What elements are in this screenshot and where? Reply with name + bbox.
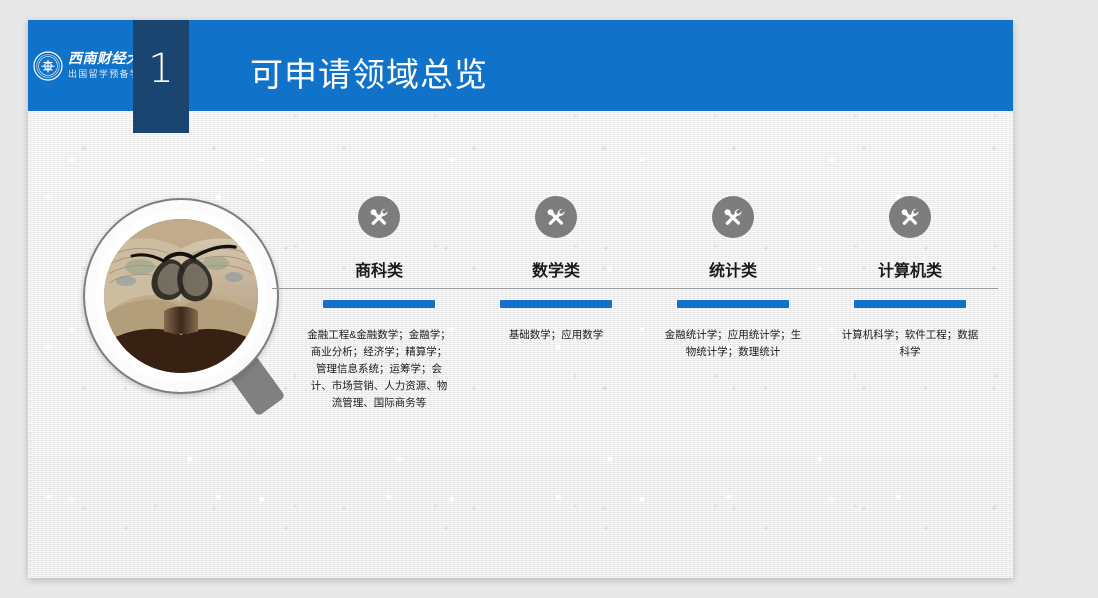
tools-icon bbox=[535, 196, 577, 238]
screenshot-canvas: 西南财经大学 出国留学预备学院 1 可申请领域总览 bbox=[0, 0, 1098, 598]
category-item-2[interactable]: 统计类 金融统计学；应用统计学；生物统计学；数理统计 bbox=[645, 196, 821, 361]
university-seal-icon bbox=[33, 51, 63, 81]
category-description: 基础数学；应用数学 bbox=[468, 327, 644, 344]
tools-icon bbox=[358, 196, 400, 238]
category-description: 金融工程&金融数学；金融学；商业分析；经济学；精算学；管理信息系统；运筹学；会计… bbox=[291, 327, 467, 412]
presentation-slide: 西南财经大学 出国留学预备学院 1 可申请领域总览 bbox=[28, 20, 1013, 578]
magnifying-glass-icon bbox=[83, 198, 293, 423]
category-title: 商科类 bbox=[291, 257, 467, 281]
category-description: 计算机科学；软件工程；数据科学 bbox=[822, 327, 998, 361]
category-accent-bar bbox=[323, 300, 435, 308]
category-item-3[interactable]: 计算机类 计算机科学；软件工程；数据科学 bbox=[822, 196, 998, 361]
tools-icon bbox=[712, 196, 754, 238]
tools-icon bbox=[889, 196, 931, 238]
page-title: 可申请领域总览 bbox=[250, 48, 488, 96]
category-description: 金融统计学；应用统计学；生物统计学；数理统计 bbox=[645, 327, 821, 361]
magnifier-lens-photo bbox=[104, 219, 258, 373]
category-accent-bar bbox=[500, 300, 612, 308]
category-title: 统计类 bbox=[645, 257, 821, 281]
category-item-0[interactable]: 商科类 金融工程&金融数学；金融学；商业分析；经济学；精算学；管理信息系统；运筹… bbox=[291, 196, 467, 412]
category-title: 计算机类 bbox=[822, 257, 998, 281]
section-number: 1 bbox=[148, 49, 173, 89]
section-number-block: 1 bbox=[133, 20, 189, 133]
category-item-1[interactable]: 数学类 基础数学；应用数学 bbox=[468, 196, 644, 344]
category-accent-bar bbox=[677, 300, 789, 308]
category-accent-bar bbox=[854, 300, 966, 308]
category-title: 数学类 bbox=[468, 257, 644, 281]
